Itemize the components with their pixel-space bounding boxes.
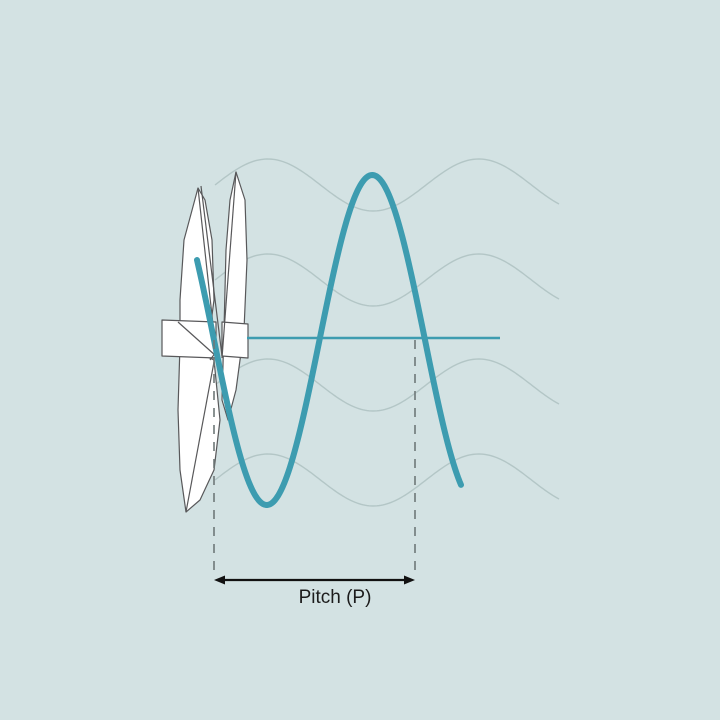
propeller-pitch-figure: Pitch (P) [0, 0, 720, 720]
pitch-label: Pitch (P) [299, 587, 372, 608]
figure-canvas: Pitch (P) [0, 0, 720, 720]
hub-left [162, 320, 216, 358]
hub-right [222, 322, 248, 358]
figure-background [0, 0, 720, 720]
